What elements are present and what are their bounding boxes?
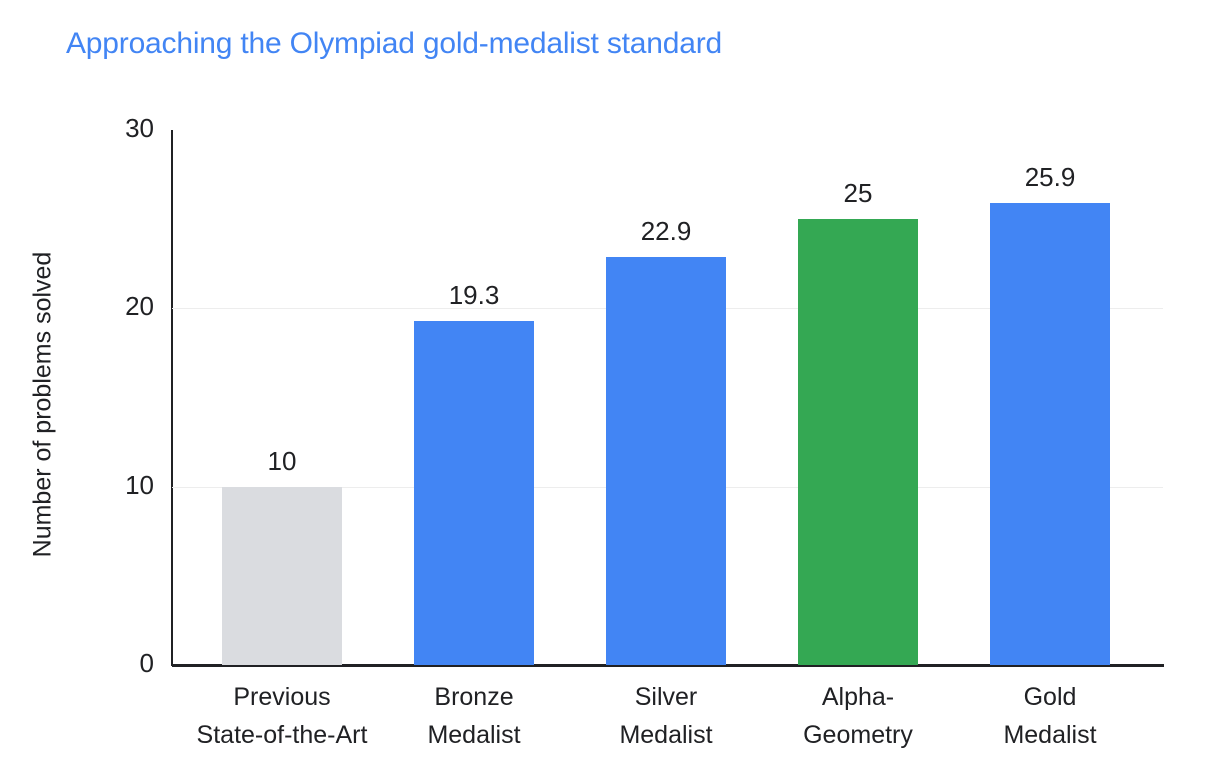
bar-value-label: 25 [798,178,918,209]
x-tick-label-line: Geometry [762,716,954,754]
x-tick-label: SilverMedalist [570,678,762,754]
x-tick-label: PreviousState-of-the-Art [186,678,378,754]
y-tick-label: 0 [96,648,154,679]
bar-value-label: 25.9 [990,162,1110,193]
bar-chart-figure: Approaching the Olympiad gold-medalist s… [0,0,1232,770]
x-tick-label-line: Medalist [570,716,762,754]
x-tick-label-line: Bronze [378,678,570,716]
bar[interactable] [606,257,726,665]
plot-area: 1019.322.92525.9 [172,130,1163,665]
x-tick-label-line: Gold [954,678,1146,716]
y-tick-label: 10 [96,470,154,501]
bar[interactable] [990,203,1110,665]
y-axis-title: Number of problems solved [29,195,58,615]
x-tick-label-line: Alpha- [762,678,954,716]
bar-value-label: 10 [222,446,342,477]
chart-title: Approaching the Olympiad gold-medalist s… [66,27,722,61]
x-tick-label: GoldMedalist [954,678,1146,754]
bar-value-label: 19.3 [414,280,534,311]
x-tick-label-line: State-of-the-Art [186,716,378,754]
bar-value-label: 22.9 [606,216,726,247]
x-tick-label-line: Medalist [954,716,1146,754]
y-tick-label: 30 [96,113,154,144]
x-tick-label: Alpha-Geometry [762,678,954,754]
x-tick-label-line: Previous [186,678,378,716]
x-tick-label-line: Silver [570,678,762,716]
bar[interactable] [798,219,918,665]
x-tick-label: BronzeMedalist [378,678,570,754]
bar[interactable] [222,487,342,665]
bar[interactable] [414,321,534,665]
y-tick-label: 20 [96,291,154,322]
x-tick-label-line: Medalist [378,716,570,754]
